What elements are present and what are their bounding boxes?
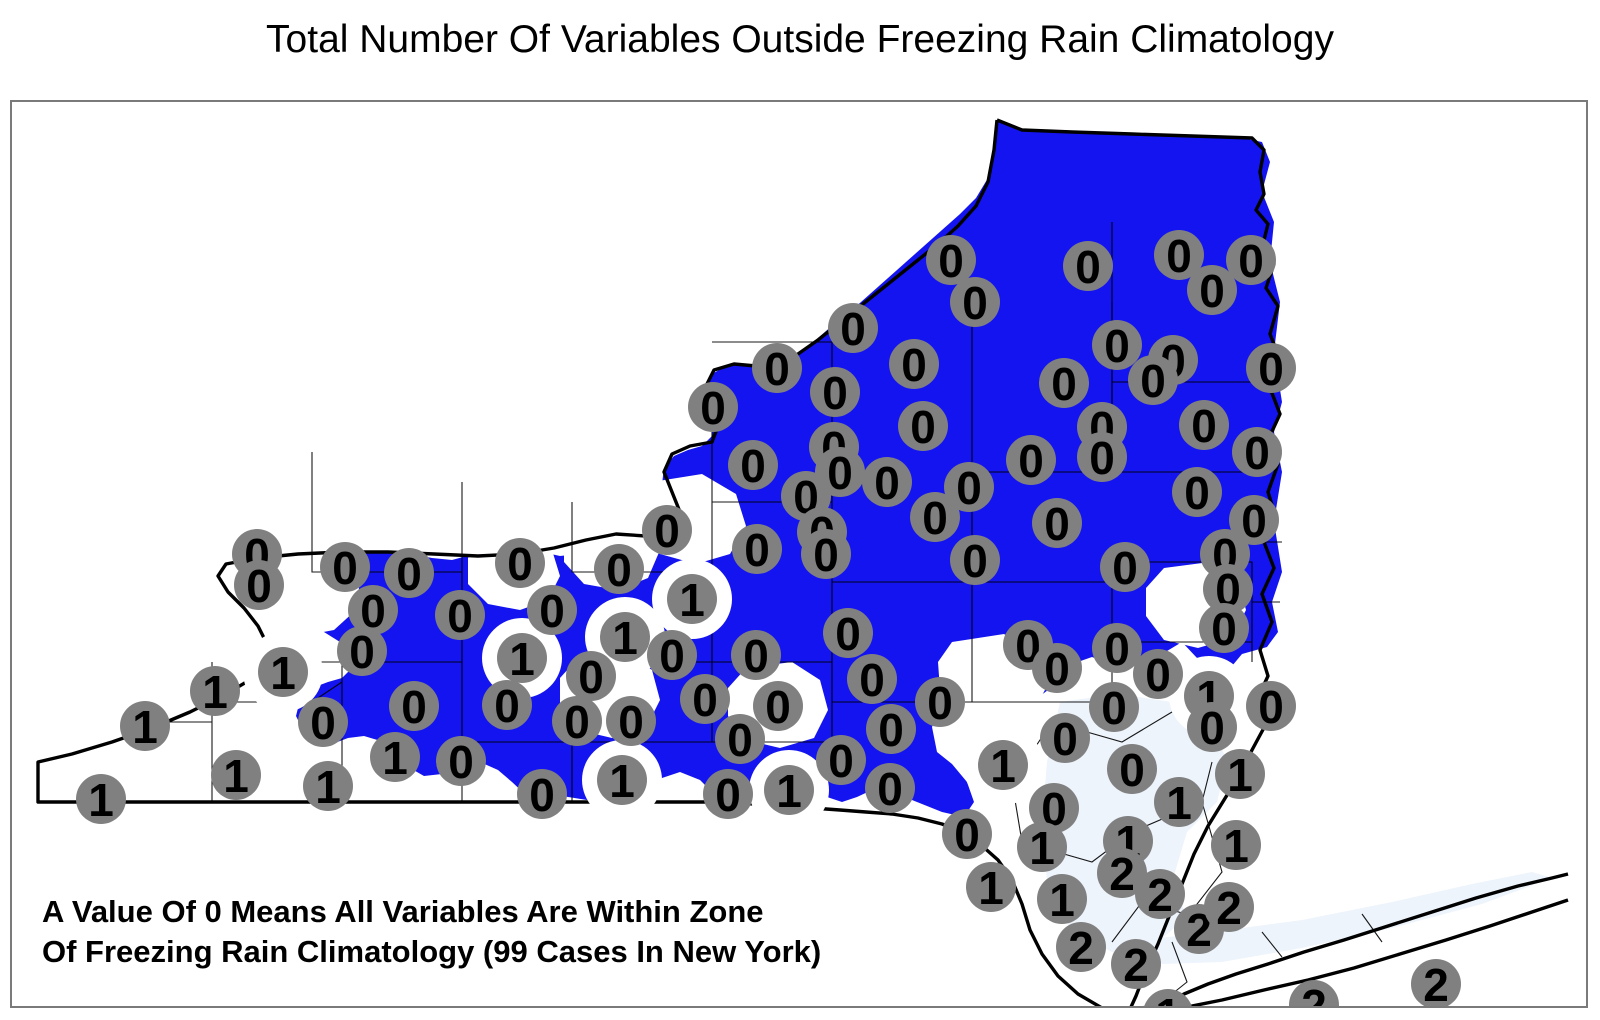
station-marker[interactable]: 1 [370,732,420,784]
marker-value: 0 [401,681,427,733]
marker-value: 0 [1145,649,1171,701]
note-line-1: A Value Of 0 Means All Variables Are Wit… [42,894,764,930]
marker-value: 0 [877,763,903,815]
marker-value: 0 [447,590,473,642]
marker-value: 0 [727,714,753,766]
marker-value: 0 [448,736,474,788]
station-marker[interactable]: 0 [298,697,348,749]
marker-value: 0 [564,696,590,748]
marker-value: 0 [1018,435,1044,487]
marker-value: 1 [1029,822,1055,874]
marker-value: 1 [132,701,158,753]
marker-value: 2 [1068,922,1094,974]
marker-value: 2 [1216,882,1242,934]
station-marker[interactable]: 1 [303,761,353,813]
marker-value: 0 [246,560,272,612]
marker-value: 0 [1258,343,1284,395]
marker-value: 0 [1244,427,1270,479]
marker-value: 0 [332,542,358,594]
station-marker[interactable]: 1 [76,774,126,826]
marker-value: 0 [874,457,900,509]
marker-value: 0 [744,524,770,576]
marker-value: 2 [1147,869,1173,921]
page-title: Total Number Of Variables Outside Freezi… [0,18,1600,62]
station-marker[interactable]: 2 [1111,939,1161,991]
marker-value: 0 [396,548,422,600]
marker-value: 0 [813,529,839,581]
marker-value: 0 [878,704,904,756]
marker-value: 0 [654,505,680,557]
marker-value: 0 [692,674,718,726]
marker-value: 1 [223,750,249,802]
marker-value: 0 [1044,498,1070,550]
marker-value: 2 [1137,1005,1163,1008]
figure-root: Total Number Of Variables Outside Freezi… [0,0,1600,1020]
marker-value: 0 [1238,235,1264,287]
marker-value: 0 [618,696,644,748]
marker-value: 0 [539,585,565,637]
marker-value: 0 [1051,358,1077,410]
station-marker[interactable]: 0 [865,763,915,815]
station-marker[interactable]: 0 [942,809,992,861]
marker-value: 0 [1044,643,1070,695]
station-marker[interactable]: 1 [120,701,170,753]
marker-value: 1 [88,774,114,826]
marker-value: 1 [1223,820,1249,872]
marker-value: 0 [1101,682,1127,734]
marker-value: 0 [743,630,769,682]
marker-value: 0 [840,303,866,355]
marker-value: 0 [954,809,980,861]
marker-value: 0 [962,535,988,587]
marker-value: 0 [1075,241,1101,293]
station-marker[interactable]: 0 [436,736,486,788]
marker-value: 0 [938,235,964,287]
map-panel: 0000000000000000000000000000000000000000… [10,100,1588,1008]
marker-value: 0 [1211,603,1237,655]
marker-value: 0 [1199,265,1225,317]
marker-value: 0 [1191,400,1217,452]
marker-value: 0 [835,608,861,660]
marker-value: 0 [1112,542,1138,594]
marker-value: 1 [270,647,296,699]
marker-value: 0 [529,769,555,821]
note-line-2: Of Freezing Rain Climatology (99 Cases I… [42,934,821,970]
marker-value: 0 [507,538,533,590]
marker-value: 0 [349,626,375,678]
marker-value: 0 [764,343,790,395]
marker-value: 0 [1258,681,1284,733]
marker-value: 0 [606,544,632,596]
marker-value: 1 [679,574,705,626]
marker-value: 2 [1109,848,1135,900]
station-marker[interactable]: 1 [211,750,261,802]
station-marker[interactable]: 1 [190,666,240,718]
marker-value: 1 [990,740,1016,792]
new-york-choropleth-map: 0000000000000000000000000000000000000000… [12,102,1588,1008]
station-marker[interactable]: 1 [1215,749,1265,801]
marker-value: 2 [1423,959,1449,1008]
marker-value: 0 [659,630,685,682]
marker-value: 0 [927,677,953,729]
station-marker[interactable]: 0 [517,769,567,821]
marker-value: 0 [822,367,848,419]
marker-value: 0 [740,440,766,492]
marker-value: 0 [1166,230,1192,282]
marker-value: 0 [310,697,336,749]
marker-value: 1 [1227,749,1253,801]
marker-value: 0 [922,492,948,544]
marker-value: 0 [1104,623,1130,675]
marker-value: 1 [1166,777,1192,829]
marker-value: 0 [1089,432,1115,484]
marker-value: 1 [609,755,635,807]
marker-value: 1 [382,732,408,784]
station-marker[interactable]: 2 [1056,922,1106,974]
marker-value: 0 [859,654,885,706]
marker-value: 2 [1123,939,1149,991]
marker-value: 0 [962,277,988,329]
marker-value: 0 [1199,702,1225,754]
marker-value: 1 [612,612,638,664]
marker-value: 0 [1140,355,1166,407]
marker-value: 2 [1301,980,1327,1008]
station-marker[interactable]: 0 [1246,681,1296,733]
marker-value: 0 [828,735,854,787]
marker-value: 1 [776,765,802,817]
marker-value: 0 [1052,713,1078,765]
marker-value: 1 [978,862,1004,914]
marker-value: 0 [494,680,520,732]
marker-value: 0 [910,401,936,453]
marker-value: 0 [715,769,741,821]
station-marker[interactable]: 1 [966,862,1016,914]
station-marker[interactable]: 1 [1211,820,1261,872]
marker-value: 0 [700,382,726,434]
marker-value: 0 [1104,320,1130,372]
station-marker[interactable]: 2 [1411,959,1461,1008]
marker-value: 0 [956,462,982,514]
marker-value: 0 [765,681,791,733]
marker-value: 0 [1184,467,1210,519]
marker-value: 1 [202,666,228,718]
marker-value: 0 [901,339,927,391]
marker-value: 1 [1049,874,1075,926]
marker-value: 0 [1119,744,1145,796]
station-marker[interactable]: 0 [703,769,753,821]
marker-value: 1 [509,633,535,685]
marker-value: 0 [827,447,853,499]
marker-value: 1 [315,761,341,813]
